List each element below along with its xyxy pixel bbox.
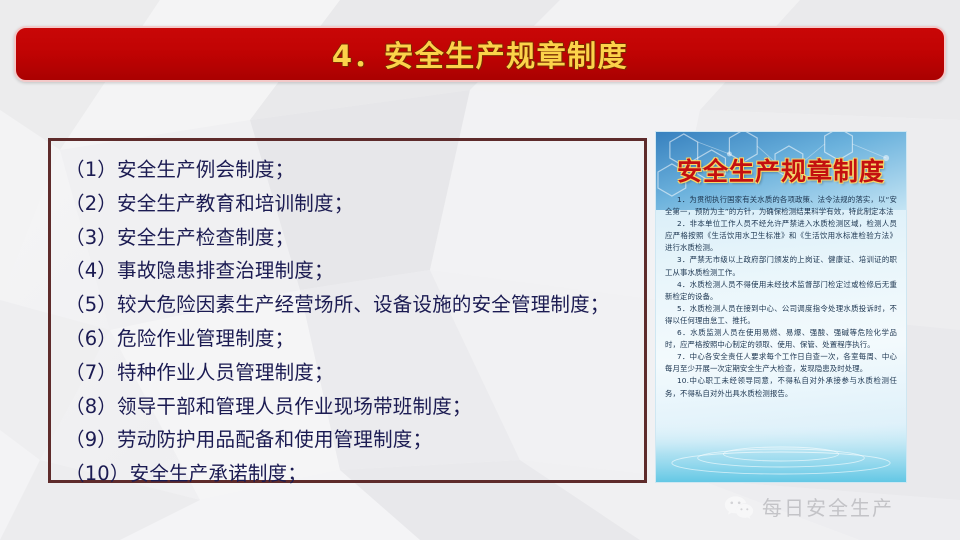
list-item: （2）安全生产教育和培训制度； [65,187,644,221]
list-item: （3）安全生产检查制度； [65,221,644,255]
poster-paragraph: 3．严禁无市级以上政府部门颁发的上岗证、健康证、培训证的职工从事水质检测工作。 [665,254,897,278]
list-item: （5）较大危险因素生产经营场所、设备设施的安全管理制度； [65,288,644,322]
list-item: （9）劳动防护用品配备和使用管理制度； [65,423,644,457]
poster-paragraph: 10.中心职工未经领导同意，不得私自对外承接参与水质检测任务，不得私自对外出具水… [665,375,897,399]
list-item: （6）危险作业管理制度； [65,322,644,356]
list-item: （4）事故隐患排查治理制度； [65,254,644,288]
wechat-icon [724,494,754,520]
list-item: （7）特种作业人员管理制度； [65,356,644,390]
list-item: （1）安全生产例会制度； [65,153,644,187]
poster-paragraph: 7．中心各安全责任人要求每个工作日自查一次，各室每周、中心每月至少开展一次定期安… [665,351,897,375]
rules-list: （1）安全生产例会制度； （2）安全生产教育和培训制度； （3）安全生产检查制度… [65,153,644,491]
poster-paragraph: 2．非本单位工作人员不经允许严禁进入水质检测区域，检测人员应严格按照《生活饮用水… [665,218,897,254]
watermark-label: 每日安全生产 [762,492,894,521]
list-item: （10）安全生产承诺制度； [65,457,644,491]
title-banner: 4．安全生产规章制度 [14,26,946,82]
slide-canvas: 4．安全生产规章制度 （1）安全生产例会制度； （2）安全生产教育和培训制度； … [0,0,960,540]
list-item: （8）领导干部和管理人员作业现场带班制度； [65,390,644,424]
poster-body-text: 1．为贯彻执行国家有关水质的各项政策、法令法规的落实，以“安全第一，预防为主”的… [665,194,897,400]
poster-paragraph: 6．水质监测人员在使用易燃、易爆、强酸、强碱等危险化学品时，应严格按照中心制定的… [665,327,897,351]
poster-paragraph: 4．水质检测人员不得使用未经技术监督部门检定过或检修后无重新检定的设备。 [665,279,897,303]
rules-content-box: （1）安全生产例会制度； （2）安全生产教育和培训制度； （3）安全生产检查制度… [48,138,647,483]
poster-paragraph: 5．水质检测人员在接到中心、公司调度指令处理水质投诉时，不得以任何理由怠工、推托… [665,303,897,327]
watermark: 每日安全生产 [724,492,894,521]
poster-title: 安全生产规章制度 [656,152,906,188]
poster-paragraph: 1．为贯彻执行国家有关水质的各项政策、法令法规的落实，以“安全第一，预防为主”的… [665,194,897,218]
poster-water-wave [656,420,906,482]
poster-image: 安全生产规章制度 1．为贯彻执行国家有关水质的各项政策、法令法规的落实，以“安全… [655,131,907,483]
page-title: 4．安全生产规章制度 [332,33,628,75]
